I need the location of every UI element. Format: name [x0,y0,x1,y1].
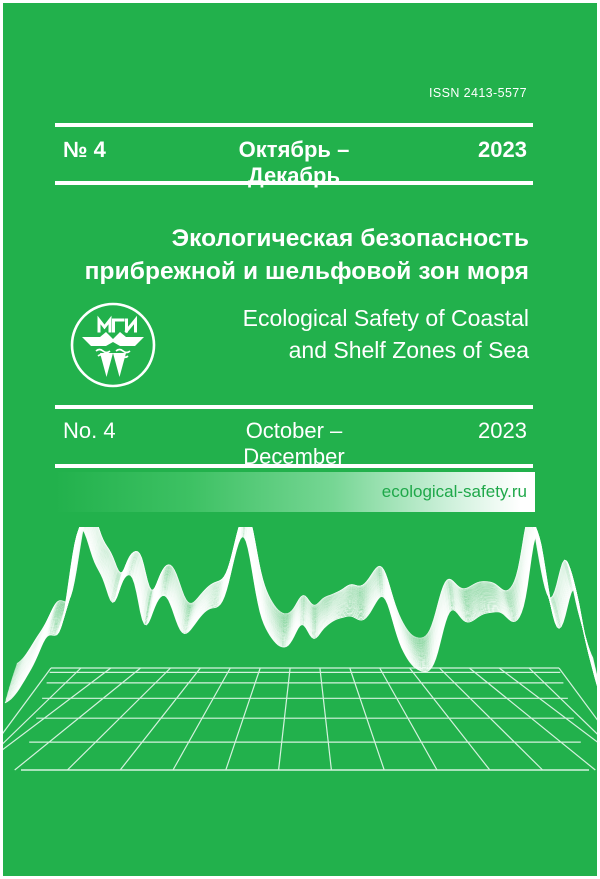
issue-year-ru: 2023 [393,137,533,163]
mgi-logo-icon [69,301,157,389]
journal-title-ru-line2: прибрежной и шельфовой зон моря [59,255,529,288]
perspective-grid [3,668,600,770]
cover-artwork [3,527,600,777]
journal-cover: ISSN 2413-5577 № 4 Октябрь – Декабрь 202… [0,0,600,879]
issue-row-russian: № 4 Октябрь – Декабрь 2023 [55,137,533,175]
issue-year-en: 2023 [393,418,533,444]
issue-period-ru: Октябрь – Декабрь [195,137,393,189]
website-url-bar: ecological-safety.ru [55,472,535,512]
journal-title-en-line2: and Shelf Zones of Sea [129,334,529,366]
journal-title-english: Ecological Safety of Coastal and Shelf Z… [129,302,529,366]
journal-title-en-line1: Ecological Safety of Coastal [129,302,529,334]
issue-number-ru: № 4 [55,137,195,163]
journal-title-russian: Экологическая безопасность прибрежной и … [59,222,529,288]
issue-number-en: No. 4 [55,418,195,444]
issue-period-en: October – December [195,418,393,470]
divider-rule-above-issue-en [55,405,533,409]
divider-rule-top [55,123,533,127]
issn-label: ISSN 2413-5577 [429,86,527,100]
issue-row-english: No. 4 October – December 2023 [55,418,533,456]
journal-title-ru-line1: Экологическая безопасность [59,222,529,255]
website-url[interactable]: ecological-safety.ru [382,482,535,502]
